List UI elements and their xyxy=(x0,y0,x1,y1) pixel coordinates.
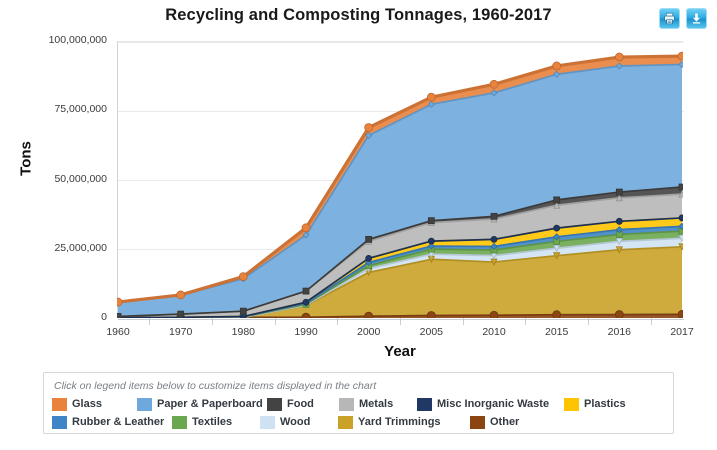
legend-item-label: Plastics xyxy=(584,398,626,410)
x-tick-label: 1990 xyxy=(294,326,317,338)
legend-item-label: Rubber & Leather xyxy=(72,416,164,428)
x-tick-mark xyxy=(525,318,526,325)
data-point-marker[interactable] xyxy=(239,273,247,281)
data-point-marker[interactable] xyxy=(366,236,372,242)
data-point-marker[interactable] xyxy=(428,218,434,224)
legend-item-label: Misc Inorganic Waste xyxy=(437,398,549,410)
y-tick-label: 50,000,000 xyxy=(54,173,107,185)
chart-application: Recycling and Composting Tonnages, 1960-… xyxy=(0,0,717,450)
stacked-area-chart xyxy=(117,41,683,318)
x-tick-label: 1970 xyxy=(169,326,192,338)
y-tick-label: 0 xyxy=(101,311,107,323)
data-point-marker[interactable] xyxy=(117,298,122,306)
x-tick-mark xyxy=(337,318,338,325)
legend-color-swatch xyxy=(267,398,282,411)
data-point-marker[interactable] xyxy=(616,189,622,195)
x-tick-mark xyxy=(400,318,401,325)
legend-item[interactable]: Plastics xyxy=(564,396,654,412)
chart-toolbar xyxy=(659,8,707,29)
data-point-marker[interactable] xyxy=(615,53,623,61)
legend-color-swatch xyxy=(260,416,275,429)
y-tick-label: 75,000,000 xyxy=(54,103,107,115)
data-point-marker[interactable] xyxy=(491,236,497,242)
print-icon[interactable] xyxy=(659,8,680,29)
legend-item-label: Paper & Paperboard xyxy=(157,398,263,410)
data-point-marker[interactable] xyxy=(616,218,622,224)
legend-item[interactable]: Yard Trimmings xyxy=(338,414,470,430)
legend-color-swatch xyxy=(339,398,354,411)
x-tick-mark xyxy=(463,318,464,325)
data-point-marker[interactable] xyxy=(303,299,309,305)
x-tick-label: 2005 xyxy=(420,326,443,338)
data-point-marker[interactable] xyxy=(490,311,498,318)
legend-color-swatch xyxy=(338,416,353,429)
legend-item-label: Textiles xyxy=(192,416,232,428)
legend-item[interactable]: Misc Inorganic Waste xyxy=(417,396,564,412)
x-tick-label: 2017 xyxy=(670,326,693,338)
legend-item[interactable]: Textiles xyxy=(172,414,260,430)
x-axis: 1960197019801990200020052010201520162017 xyxy=(117,318,683,344)
data-point-marker[interactable] xyxy=(303,288,309,294)
data-point-marker[interactable] xyxy=(679,215,683,221)
y-tick-label: 25,000,000 xyxy=(54,242,107,254)
legend-color-swatch xyxy=(137,398,152,411)
data-point-marker[interactable] xyxy=(679,184,683,190)
legend-color-swatch xyxy=(417,398,432,411)
data-point-marker[interactable] xyxy=(491,213,497,219)
data-point-marker[interactable] xyxy=(240,308,246,314)
x-tick-label: 2016 xyxy=(608,326,631,338)
data-point-marker[interactable] xyxy=(366,255,372,261)
legend-color-swatch xyxy=(52,416,67,429)
legend-item[interactable]: Wood xyxy=(260,414,338,430)
data-point-marker[interactable] xyxy=(553,311,561,318)
legend-item[interactable]: Rubber & Leather xyxy=(52,414,172,430)
y-tick-label: 100,000,000 xyxy=(49,34,107,46)
legend-item[interactable]: Food xyxy=(267,396,339,412)
data-point-marker[interactable] xyxy=(178,311,184,317)
data-point-marker[interactable] xyxy=(490,80,498,88)
legend-item-label: Metals xyxy=(359,398,393,410)
x-tick-label: 1960 xyxy=(106,326,129,338)
data-point-marker[interactable] xyxy=(428,238,434,244)
chart-legend[interactable]: Click on legend items below to customize… xyxy=(43,372,674,434)
legend-color-swatch xyxy=(470,416,485,429)
x-tick-mark xyxy=(588,318,589,325)
legend-color-swatch xyxy=(52,398,67,411)
x-tick-label: 2015 xyxy=(545,326,568,338)
data-point-marker[interactable] xyxy=(553,62,561,70)
data-point-marker[interactable] xyxy=(678,52,683,60)
legend-item[interactable]: Metals xyxy=(339,396,417,412)
data-point-marker[interactable] xyxy=(177,291,185,299)
data-point-marker[interactable] xyxy=(302,224,310,232)
x-tick-mark xyxy=(275,318,276,325)
legend-color-swatch xyxy=(564,398,579,411)
x-tick-label: 2010 xyxy=(482,326,505,338)
data-point-marker[interactable] xyxy=(365,124,373,132)
x-axis-title: Year xyxy=(117,343,683,360)
legend-item[interactable]: Other xyxy=(470,414,540,430)
data-point-marker[interactable] xyxy=(427,93,435,101)
x-tick-label: 1980 xyxy=(232,326,255,338)
page-title: Recycling and Composting Tonnages, 1960-… xyxy=(0,6,717,25)
legend-item-label: Yard Trimmings xyxy=(358,416,441,428)
x-tick-mark xyxy=(149,318,150,325)
legend-item-label: Wood xyxy=(280,416,310,428)
legend-item-list: GlassPaper & PaperboardFoodMetalsMisc In… xyxy=(52,395,665,431)
legend-item-label: Glass xyxy=(72,398,102,410)
legend-color-swatch xyxy=(172,416,187,429)
legend-hint: Click on legend items below to customize… xyxy=(54,380,665,392)
y-axis-title: Tons xyxy=(18,129,35,189)
x-tick-mark xyxy=(212,318,213,325)
x-tick-mark xyxy=(651,318,652,325)
x-tick-label: 2000 xyxy=(357,326,380,338)
data-point-marker[interactable] xyxy=(678,310,683,318)
data-point-marker[interactable] xyxy=(554,197,560,203)
plot-area xyxy=(117,41,683,318)
data-point-marker[interactable] xyxy=(615,311,623,318)
legend-item-label: Food xyxy=(287,398,314,410)
download-icon[interactable] xyxy=(686,8,707,29)
legend-item[interactable]: Paper & Paperboard xyxy=(137,396,267,412)
data-point-marker[interactable] xyxy=(554,225,560,231)
legend-item[interactable]: Glass xyxy=(52,396,137,412)
legend-item-label: Other xyxy=(490,416,519,428)
